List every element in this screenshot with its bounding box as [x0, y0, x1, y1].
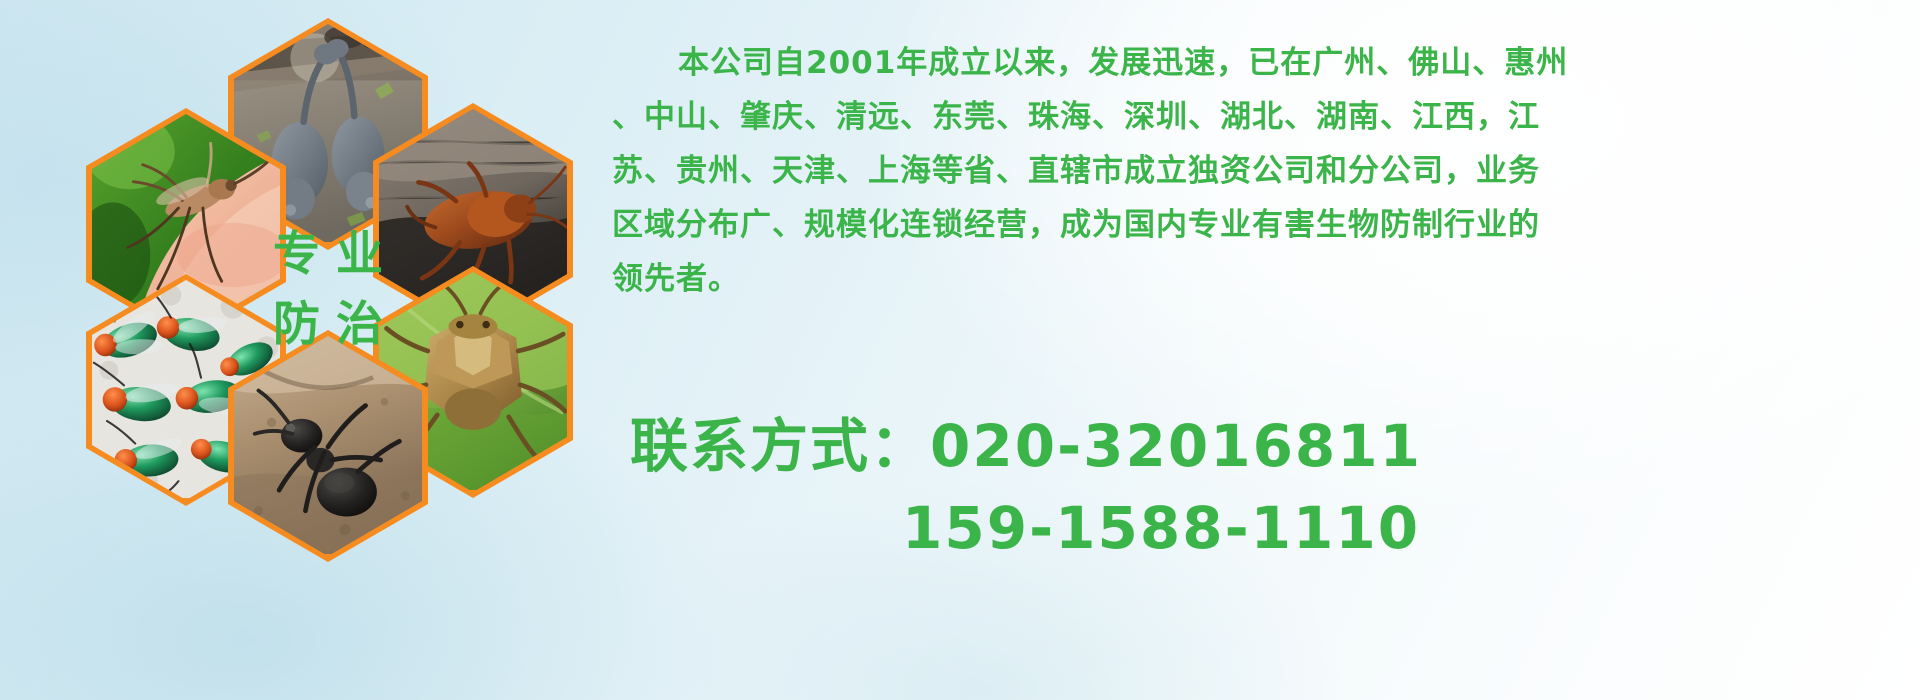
hexagon-badge-inner: 专业 防治 — [234, 180, 422, 400]
about-line-3: 苏、贵州、天津、上海等省、直辖市成立独资公司和分公司，业务 — [612, 144, 1902, 198]
about-line-2: 、中山、肇庆、清远、东莞、珠海、深圳、湖北、湖南、江西，江 — [612, 90, 1902, 144]
badge-line-1: 专业 — [257, 220, 399, 291]
badge-line-2: 防治 — [257, 290, 399, 361]
contact-line-phone-2[interactable]: 159-1588-1110 — [612, 487, 1902, 569]
about-line-4: 区域分布广、规模化连锁经营，成为国内专业有害生物防制行业的 — [612, 198, 1902, 252]
about-text: 本公司自2001年成立以来，发展迅速，已在广州、佛山、惠州 、中山、肇庆、清远、… — [612, 36, 1902, 306]
about-line-5: 领先者。 — [612, 252, 1902, 306]
contact-line-phone-1[interactable]: 联系方式：020-32016811 — [612, 405, 1902, 487]
contact-block: 联系方式：020-32016811 159-1588-1110 — [612, 405, 1902, 569]
hexagon-photo-cluster: 专业 防治 — [78, 8, 598, 568]
about-paragraph: 本公司自2001年成立以来，发展迅速，已在广州、佛山、惠州 、中山、肇庆、清远、… — [612, 36, 1902, 306]
about-line-1: 本公司自2001年成立以来，发展迅速，已在广州、佛山、惠州 — [612, 36, 1902, 90]
